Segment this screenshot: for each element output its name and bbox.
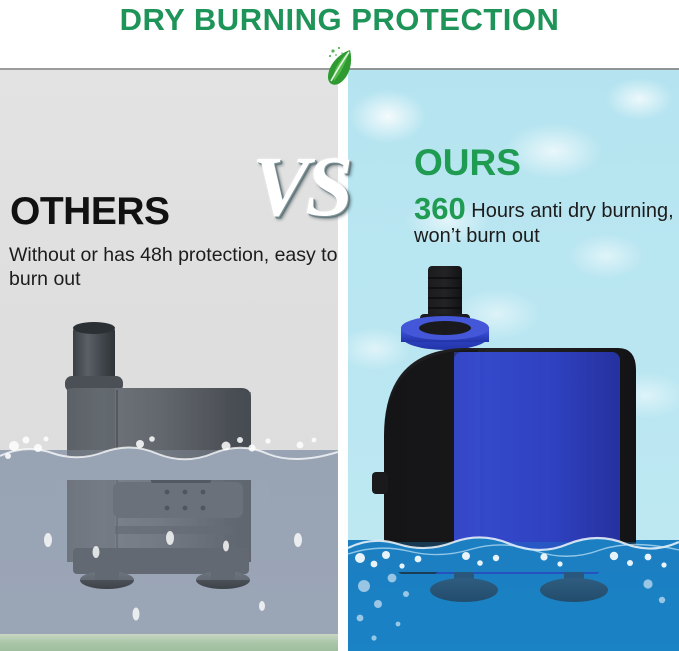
- left-sand-strip: [0, 634, 338, 651]
- leaf-icon: [322, 44, 362, 88]
- ours-description: 360 Hours anti dry burning, won’t burn o…: [414, 196, 679, 249]
- ours-hours-number: 360: [414, 191, 466, 226]
- versus-label: VS: [252, 143, 349, 229]
- others-heading: OTHERS: [10, 190, 170, 234]
- dry-burning-protection-banner: DRY BURNING PROTECTION: [0, 0, 679, 651]
- left-water-surface: [0, 434, 338, 474]
- others-description: Without or has 48h protection, easy to b…: [9, 243, 339, 291]
- ours-heading: OURS: [414, 142, 521, 184]
- right-water-surface: [348, 522, 679, 572]
- page-title: DRY BURNING PROTECTION: [0, 2, 679, 38]
